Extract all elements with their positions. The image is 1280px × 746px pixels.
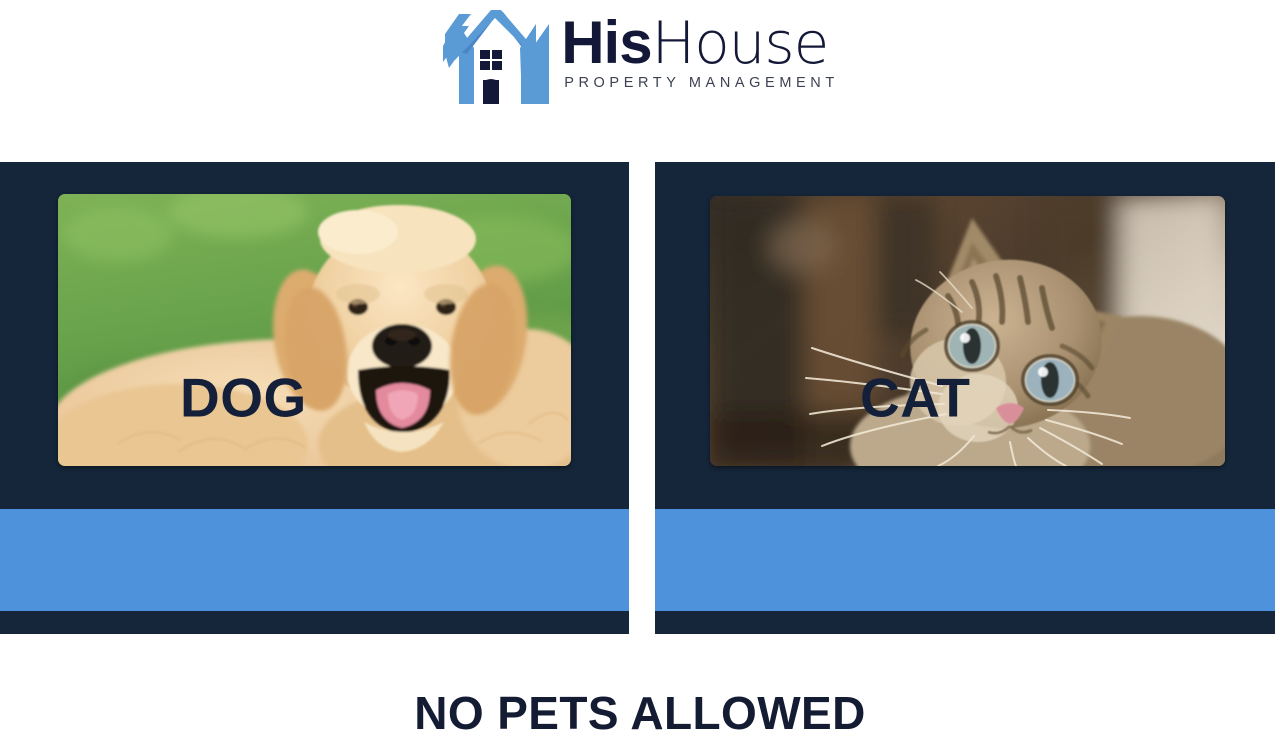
page-caption: NO PETS ALLOWED (0, 688, 1280, 739)
brand-name-bold: His (561, 9, 651, 76)
house-w-logo-icon (441, 8, 549, 108)
cat-label-band (655, 509, 1275, 611)
dog-photo-frame (58, 194, 571, 466)
brand-wordmark-group: HisHouse PROPERTY MANAGEMENT (561, 8, 839, 91)
pet-cards-row: DOG (0, 162, 1280, 634)
dog-label-band (0, 509, 629, 611)
no-pets-allowed-graphic: HisHouse PROPERTY MANAGEMENT (0, 0, 1280, 746)
pet-card-dog: DOG (0, 162, 629, 634)
brand-lockup: HisHouse PROPERTY MANAGEMENT (441, 8, 839, 108)
brand-wordmark: HisHouse (561, 12, 839, 74)
cat-label: CAT (860, 371, 970, 426)
brand-tagline: PROPERTY MANAGEMENT (561, 75, 839, 91)
golden-retriever-photo (58, 194, 571, 466)
pet-card-cat: CAT (655, 162, 1275, 634)
dog-label: DOG (180, 371, 307, 426)
brand-header: HisHouse PROPERTY MANAGEMENT (0, 4, 1280, 112)
brand-name-light: House (652, 9, 829, 77)
